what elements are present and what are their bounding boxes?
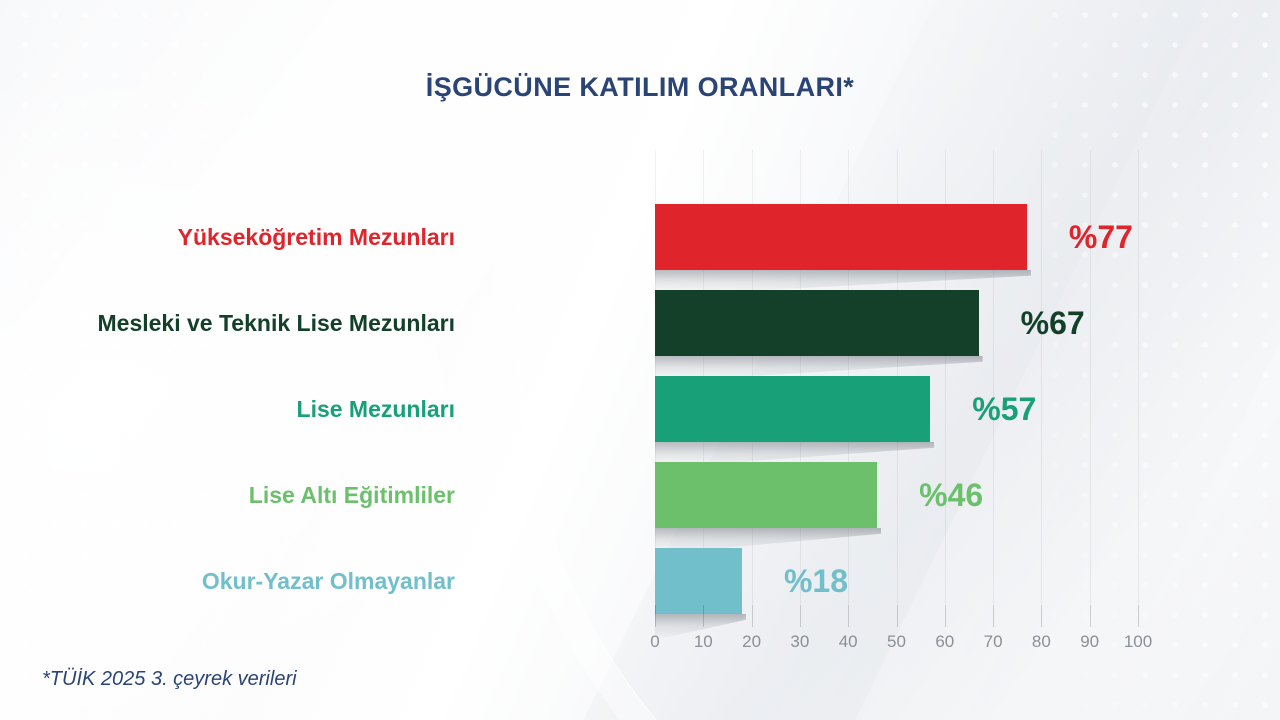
gridline xyxy=(1138,150,1139,605)
value-label: %67 xyxy=(1021,290,1085,356)
value-label: %57 xyxy=(972,376,1036,442)
bar[interactable] xyxy=(655,462,877,528)
value-label: %77 xyxy=(1069,204,1133,270)
x-tick-label: 100 xyxy=(1108,632,1168,652)
tick-mark xyxy=(897,605,898,627)
tick-mark xyxy=(655,605,656,627)
category-label: Lise Mezunları xyxy=(0,376,483,442)
tick-mark xyxy=(848,605,849,627)
category-label: Lise Altı Eğitimliler xyxy=(0,462,483,528)
bar-row[interactable]: Lise Altı Eğitimliler%46 xyxy=(655,462,1138,528)
page-title: İŞGÜCÜNE KATILIM ORANLARI* xyxy=(0,72,1280,103)
plot-area: Yükseköğretim Mezunları%77Mesleki ve Tek… xyxy=(655,150,1138,605)
bar[interactable] xyxy=(655,290,979,356)
tick-mark xyxy=(1138,605,1139,627)
tick-mark xyxy=(993,605,994,627)
bar[interactable] xyxy=(655,376,930,442)
tick-mark xyxy=(1090,605,1091,627)
category-label: Yükseköğretim Mezunları xyxy=(0,204,483,270)
tick-mark xyxy=(800,605,801,627)
tick-mark xyxy=(945,605,946,627)
category-label: Mesleki ve Teknik Lise Mezunları xyxy=(0,290,483,356)
bar[interactable] xyxy=(655,548,742,614)
bar-row[interactable]: Mesleki ve Teknik Lise Mezunları%67 xyxy=(655,290,1138,356)
chart-canvas: İŞGÜCÜNE KATILIM ORANLARI* Yükseköğretim… xyxy=(0,0,1280,720)
tick-mark xyxy=(1041,605,1042,627)
value-label: %46 xyxy=(919,462,983,528)
category-label: Okur-Yazar Olmayanlar xyxy=(0,548,483,614)
footnote: *TÜİK 2025 3. çeyrek verileri xyxy=(42,668,297,691)
value-label: %18 xyxy=(784,548,848,614)
tick-mark xyxy=(703,605,704,627)
bar-row[interactable]: Yükseköğretim Mezunları%77 xyxy=(655,204,1138,270)
bar[interactable] xyxy=(655,204,1027,270)
bar-row[interactable]: Lise Mezunları%57 xyxy=(655,376,1138,442)
tick-mark xyxy=(752,605,753,627)
